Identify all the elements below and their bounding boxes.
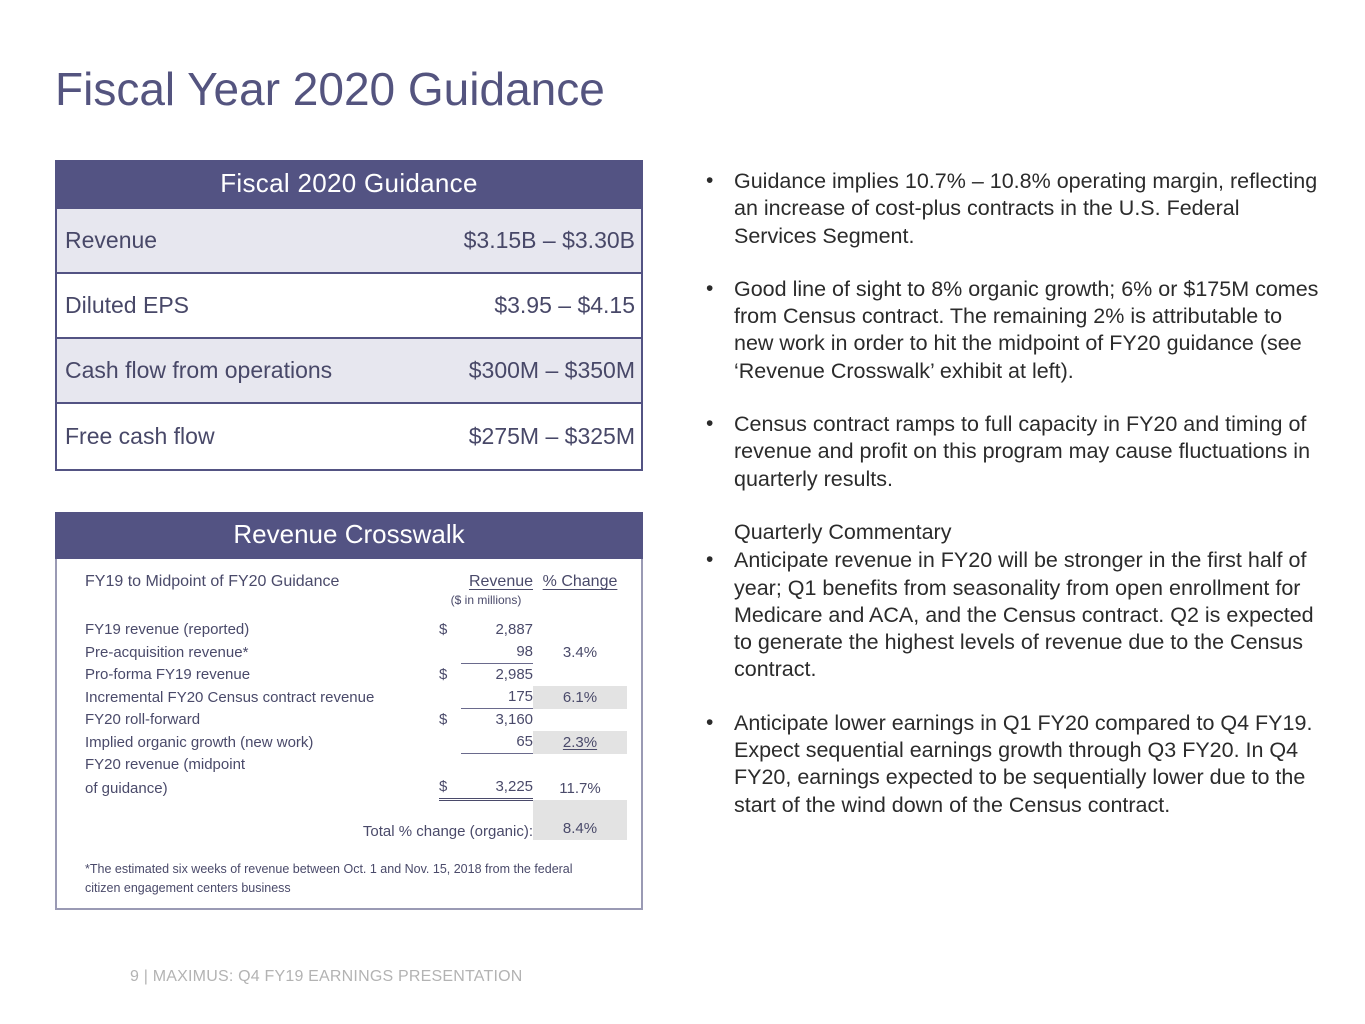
table-row: of guidance) $ 3,225 11.7%	[85, 776, 627, 800]
crosswalk-row-pct: 11.7%	[533, 776, 627, 800]
list-item: • Anticipate revenue in FY20 will be str…	[706, 547, 1321, 683]
crosswalk-subtitle: FY19 to Midpoint of FY20 Guidance	[85, 573, 439, 593]
crosswalk-row-label: FY20 revenue (midpoint	[85, 754, 439, 777]
crosswalk-row-currency	[439, 641, 461, 664]
crosswalk-row-pct: 3.4%	[533, 641, 627, 664]
crosswalk-row-currency: $	[439, 664, 461, 687]
spacer	[85, 607, 627, 619]
list-item: • Guidance implies 10.7% – 10.8% operati…	[706, 168, 1321, 250]
crosswalk-row-label: FY20 roll-forward	[85, 709, 439, 732]
crosswalk-total-row: Total % change (organic): 8.4%	[85, 800, 627, 840]
list-item: • Good line of sight to 8% organic growt…	[706, 276, 1321, 385]
guidance-row-label: Diluted EPS	[65, 292, 189, 319]
commentary-bullet-text: Census contract ramps to full capacity i…	[734, 411, 1321, 493]
commentary-column: • Guidance implies 10.7% – 10.8% operati…	[706, 168, 1321, 845]
quarterly-bullet-text: Anticipate lower earnings in Q1 FY20 com…	[734, 710, 1321, 819]
crosswalk-row-label: Incremental FY20 Census contract revenue	[85, 686, 439, 709]
crosswalk-row-pct: 2.3%	[563, 734, 597, 751]
bullet-icon: •	[706, 168, 734, 250]
crosswalk-row-pct	[533, 664, 627, 687]
table-row: Diluted EPS $3.95 – $4.15	[57, 274, 641, 339]
crosswalk-body: FY19 to Midpoint of FY20 Guidance Revenu…	[57, 559, 641, 908]
crosswalk-row-label: Implied organic growth (new work)	[85, 731, 439, 754]
crosswalk-row-currency	[439, 731, 461, 754]
crosswalk-row-label: FY19 revenue (reported)	[85, 619, 439, 641]
crosswalk-row-value: 3,225	[461, 776, 533, 800]
guidance-row-label: Free cash flow	[65, 423, 215, 450]
table-row: Implied organic growth (new work) 65 2.3…	[85, 731, 627, 754]
table-row: Pre-acquisition revenue* 98 3.4%	[85, 641, 627, 664]
crosswalk-row-pct	[533, 619, 627, 641]
quarterly-bullet-text: Anticipate revenue in FY20 will be stron…	[734, 547, 1321, 683]
revenue-crosswalk-panel: Revenue Crosswalk FY19 to Midpoint of FY…	[55, 512, 643, 910]
crosswalk-row-label: Pro-forma FY19 revenue	[85, 664, 439, 687]
table-row: Revenue $3.15B – $3.30B	[57, 209, 641, 274]
crosswalk-footnote: *The estimated six weeks of revenue betw…	[85, 860, 605, 899]
guidance-row-value: $300M – $350M	[469, 357, 635, 384]
page-title: Fiscal Year 2020 Guidance	[55, 62, 605, 116]
crosswalk-row-currency: $	[439, 776, 461, 800]
crosswalk-row-pct: 6.1%	[533, 686, 627, 709]
table-row: Free cash flow $275M – $325M	[57, 404, 641, 469]
crosswalk-col-pct-change: % Change	[543, 573, 618, 590]
slide-footer: 9 | MAXIMUS: Q4 FY19 EARNINGS PRESENTATI…	[130, 968, 523, 986]
crosswalk-row-currency	[439, 686, 461, 709]
list-item: • Census contract ramps to full capacity…	[706, 411, 1321, 493]
list-item: • Anticipate lower earnings in Q1 FY20 c…	[706, 710, 1321, 819]
crosswalk-row-value: 2,887	[461, 619, 533, 641]
crosswalk-column-headers: FY19 to Midpoint of FY20 Guidance Revenu…	[85, 573, 627, 593]
guidance-row-label: Revenue	[65, 227, 157, 254]
commentary-bullet-text: Good line of sight to 8% organic growth;…	[734, 276, 1321, 385]
guidance-table-body: Revenue $3.15B – $3.30B Diluted EPS $3.9…	[55, 209, 643, 471]
crosswalk-table: FY19 to Midpoint of FY20 Guidance Revenu…	[85, 573, 627, 840]
crosswalk-row-value: 65	[461, 731, 533, 754]
crosswalk-row-value: 3,160	[461, 709, 533, 732]
crosswalk-row-value: 2,985	[461, 664, 533, 687]
commentary-bullet-text: Guidance implies 10.7% – 10.8% operating…	[734, 168, 1321, 250]
guidance-row-value: $3.95 – $4.15	[494, 292, 635, 319]
crosswalk-row-pct	[533, 709, 627, 732]
table-row: FY20 revenue (midpoint	[85, 754, 627, 777]
table-row: FY20 roll-forward $ 3,160	[85, 709, 627, 732]
table-row: Cash flow from operations $300M – $350M	[57, 339, 641, 404]
crosswalk-row-currency: $	[439, 709, 461, 732]
crosswalk-col-revenue: Revenue	[469, 573, 533, 590]
crosswalk-row-label-cont: of guidance)	[85, 776, 439, 800]
guidance-row-label: Cash flow from operations	[65, 357, 332, 384]
bullet-icon: •	[706, 710, 734, 819]
crosswalk-total-pct: 8.4%	[533, 800, 627, 840]
crosswalk-row-label: Pre-acquisition revenue*	[85, 641, 439, 664]
table-row: FY19 revenue (reported) $ 2,887	[85, 619, 627, 641]
bullet-icon: •	[706, 276, 734, 385]
bullet-icon: •	[706, 547, 734, 683]
table-row: Pro-forma FY19 revenue $ 2,985	[85, 664, 627, 687]
guidance-row-value: $3.15B – $3.30B	[464, 227, 635, 254]
crosswalk-row-value: 175	[461, 686, 533, 709]
crosswalk-units: ($ in millions)	[439, 593, 533, 607]
bullet-icon: •	[706, 411, 734, 493]
crosswalk-units-row: ($ in millions)	[85, 593, 627, 607]
crosswalk-total-label: Total % change (organic):	[85, 800, 533, 840]
crosswalk-header: Revenue Crosswalk	[55, 512, 643, 559]
guidance-table-header: Fiscal 2020 Guidance	[55, 160, 643, 209]
table-row: Incremental FY20 Census contract revenue…	[85, 686, 627, 709]
fiscal-2020-guidance-table: Fiscal 2020 Guidance Revenue $3.15B – $3…	[55, 160, 643, 471]
quarterly-commentary-heading: Quarterly Commentary	[734, 519, 1321, 546]
crosswalk-row-value: 98	[461, 641, 533, 664]
crosswalk-row-currency: $	[439, 619, 461, 641]
guidance-row-value: $275M – $325M	[469, 423, 635, 450]
